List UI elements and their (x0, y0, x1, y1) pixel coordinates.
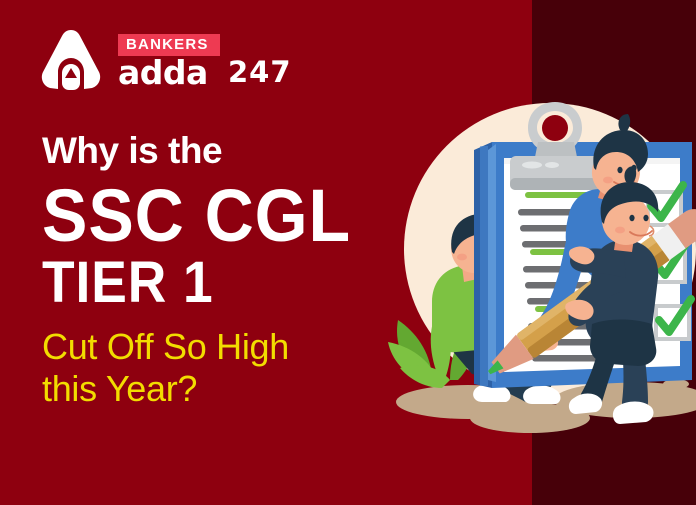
adda-wordmark: adda (118, 56, 208, 89)
headline-line-ssc-cgl: SSC CGL (42, 182, 373, 250)
subheadline-line-2: this Year? (42, 368, 402, 410)
subheadline-line-1: Cut Off So High (42, 326, 402, 368)
brand-wordmark: BANKERS adda 247 (118, 26, 338, 96)
adda247-triangle-icon (40, 28, 102, 92)
poster-canvas: BANKERS adda 247 Why is the SSC CGL TIER… (0, 0, 696, 505)
headline-line-tier: TIER 1 (42, 254, 373, 312)
checklist-clipboard-illustration (380, 80, 696, 505)
headline-line-why: Why is the (42, 132, 402, 169)
brand-logo[interactable]: BANKERS adda 247 (40, 26, 340, 98)
headline-block: Why is the SSC CGL TIER 1 Cut Off So Hig… (42, 132, 402, 410)
adda-number-mark: 247 (228, 58, 292, 87)
